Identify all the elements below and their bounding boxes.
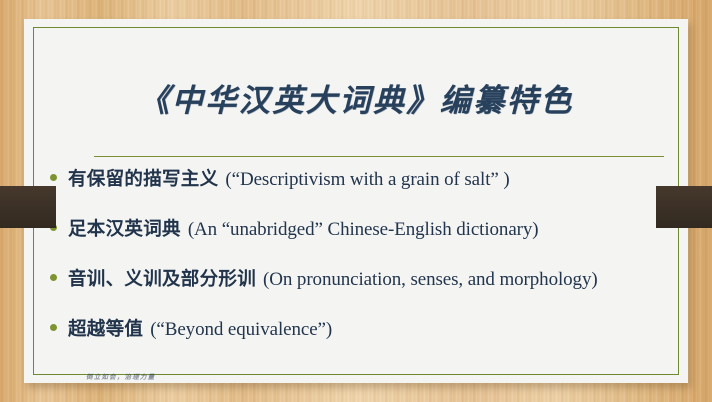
slide-card: 《中华汉英大词典》编纂特色 有保留的描写主义 (“Descriptivism w… [24, 19, 688, 383]
bullet-list: 有保留的描写主义 (“Descriptivism with a grain of… [50, 165, 712, 365]
bullet-dot-icon [50, 324, 57, 331]
footer-watermark: 倒立如会，治理力量 [86, 371, 155, 381]
bullet-english-text: (An “unabridged” Chinese-English diction… [188, 219, 539, 241]
list-item: 有保留的描写主义 (“Descriptivism with a grain of… [50, 165, 712, 215]
list-item: 足本汉英词典 (An “unabridged” Chinese-English … [50, 215, 712, 265]
bullet-chinese-text: 音训、义训及部分形训 [68, 265, 256, 291]
decorative-tab-right [656, 186, 712, 228]
list-item: 音训、义训及部分形训 (On pronunciation, senses, an… [50, 265, 712, 315]
bullet-english-text: (“Beyond equivalence”) [150, 319, 332, 341]
slide-canvas: 《中华汉英大词典》编纂特色 有保留的描写主义 (“Descriptivism w… [0, 0, 712, 402]
bullet-chinese-text: 有保留的描写主义 [68, 165, 218, 191]
title-divider [94, 156, 664, 157]
bullet-dot-icon [50, 174, 57, 181]
bullet-english-text: (On pronunciation, senses, and morpholog… [263, 269, 598, 291]
bullet-chinese-text: 超越等值 [68, 315, 143, 341]
list-item: 超越等值 (“Beyond equivalence”) [50, 315, 712, 365]
bullet-english-text: (“Descriptivism with a grain of salt” ) [225, 169, 509, 191]
decorative-tab-left [0, 186, 56, 228]
slide-title: 《中华汉英大词典》编纂特色 [24, 75, 688, 120]
bullet-chinese-text: 足本汉英词典 [68, 215, 181, 241]
bullet-dot-icon [50, 274, 57, 281]
